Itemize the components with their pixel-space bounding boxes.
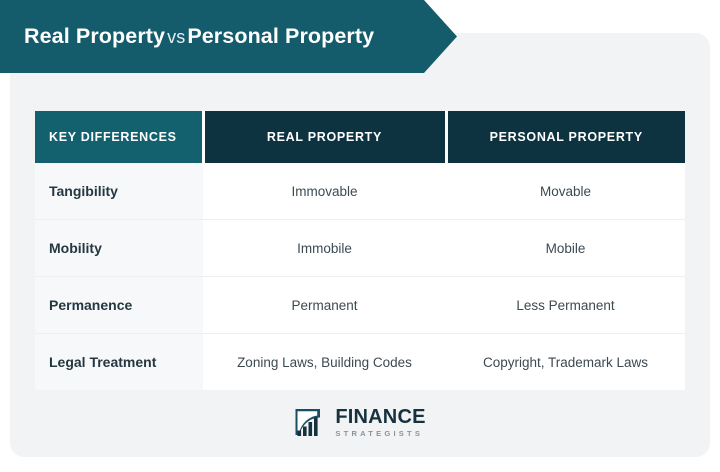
comparison-table-wrapper: KEY DIFFERENCES REAL PROPERTY PERSONAL P… [35,111,685,390]
brand-logo: FINANCE STRATEGISTS [0,406,720,438]
table-row: Legal Treatment Zoning Laws, Building Co… [35,334,685,391]
table-row: Mobility Immobile Mobile [35,220,685,277]
cell-personal-property: Copyright, Trademark Laws [446,334,685,391]
cell-personal-property: Less Permanent [446,277,685,334]
table-header-row: KEY DIFFERENCES REAL PROPERTY PERSONAL P… [35,111,685,163]
cell-personal-property: Movable [446,163,685,220]
column-header-key-differences: KEY DIFFERENCES [35,111,203,163]
title-right-text: Personal Property [187,24,374,48]
title-vs-text: vs [165,27,187,47]
row-key-label: Permanence [35,277,203,334]
row-key-label: Tangibility [35,163,203,220]
cell-real-property: Zoning Laws, Building Codes [203,334,446,391]
title-left-text: Real Property [24,24,165,48]
table-body: Tangibility Immovable Movable Mobility I… [35,163,685,390]
cell-real-property: Permanent [203,277,446,334]
title-banner: Real PropertyvsPersonal Property [0,0,457,73]
comparison-table: KEY DIFFERENCES REAL PROPERTY PERSONAL P… [35,111,685,390]
infographic-root: Real PropertyvsPersonal Property KEY DIF… [0,0,720,472]
row-key-label: Mobility [35,220,203,277]
logo-wordmark: FINANCE STRATEGISTS [335,407,425,438]
table-row: Permanence Permanent Less Permanent [35,277,685,334]
row-key-label: Legal Treatment [35,334,203,391]
cell-personal-property: Mobile [446,220,685,277]
logo-subtitle: STRATEGISTS [335,430,425,438]
bar-chart-arrow-icon [294,406,328,438]
cell-real-property: Immovable [203,163,446,220]
column-header-real-property: REAL PROPERTY [203,111,446,163]
logo-name: FINANCE [335,407,425,427]
cell-real-property: Immobile [203,220,446,277]
page-title: Real PropertyvsPersonal Property [24,24,374,49]
column-header-personal-property: PERSONAL PROPERTY [446,111,685,163]
table-row: Tangibility Immovable Movable [35,163,685,220]
table-header: KEY DIFFERENCES REAL PROPERTY PERSONAL P… [35,111,685,163]
